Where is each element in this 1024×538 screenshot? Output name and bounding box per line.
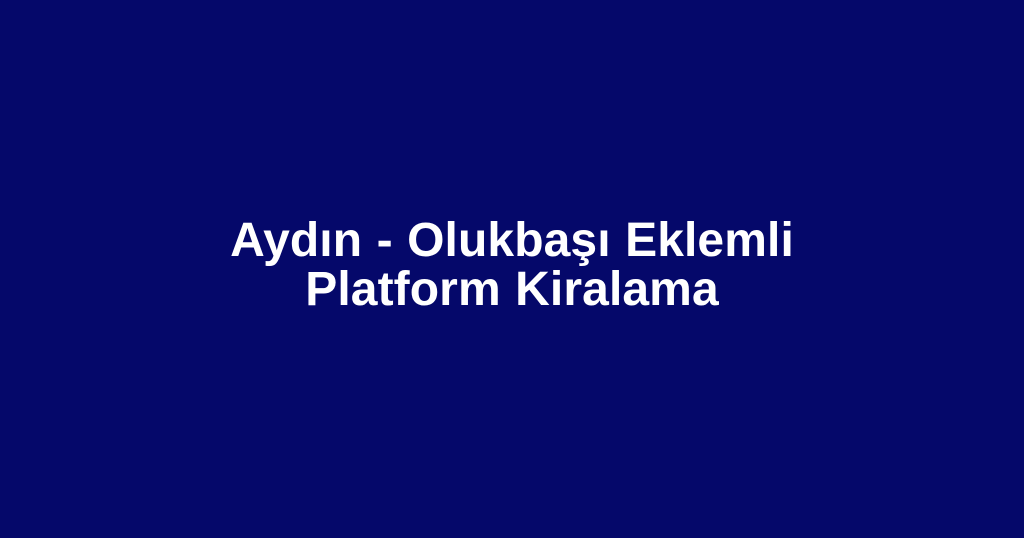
headline-block: Aydın - Olukbaşı Eklemli Platform Kirala… [120, 216, 904, 314]
share-card: Aydın - Olukbaşı Eklemli Platform Kirala… [0, 0, 1024, 538]
page-title: Aydın - Olukbaşı Eklemli Platform Kirala… [136, 216, 888, 314]
